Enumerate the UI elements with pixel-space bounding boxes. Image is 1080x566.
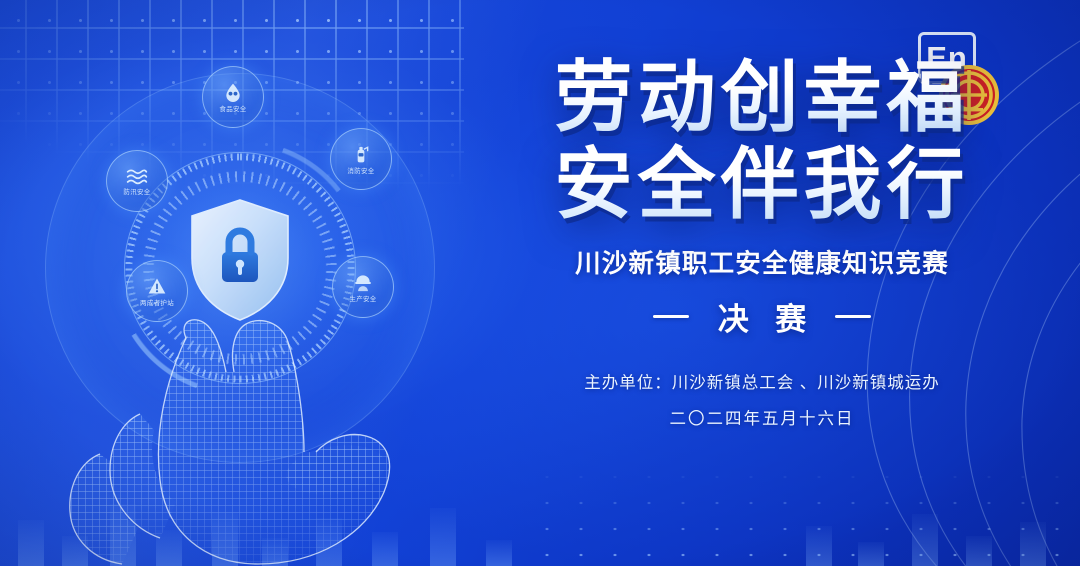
- badge-label: 消防安全: [347, 165, 374, 175]
- poster-canvas: 食品安全 消防安全 生产安全: [0, 0, 1080, 566]
- organizer-line: 主办单位：川沙新镇总工会 、川沙新镇城运办: [512, 369, 1012, 393]
- stage-row: 决 赛: [512, 294, 1012, 339]
- title-line-1: 劳动创幸福: [512, 56, 1012, 139]
- badge-fire-safety[interactable]: 消防安全: [330, 128, 392, 190]
- event-subtitle: 川沙新镇职工安全健康知识竞赛: [512, 243, 1012, 280]
- dash-right-decor: [835, 315, 871, 318]
- warning-triangle-icon: [147, 276, 167, 296]
- badge-food-safety[interactable]: 食品安全: [202, 66, 264, 128]
- worker-helmet-icon: [353, 272, 373, 292]
- title-line-2: 安全伴我行: [512, 143, 1012, 226]
- badge-label: 食品安全: [219, 103, 246, 113]
- event-date: 二〇二四年五月十六日: [512, 405, 1012, 429]
- water-wave-icon: [126, 167, 148, 185]
- badge-label: 防汛安全: [123, 186, 150, 196]
- dot-grid-decor: [530, 464, 1080, 566]
- wireframe-hand-graphic: [36, 302, 466, 566]
- droplet-mask-icon: [223, 82, 243, 102]
- dash-left-decor: [653, 315, 689, 318]
- stage-label: 决 赛: [709, 294, 816, 339]
- badge-label: 生产安全: [349, 293, 376, 303]
- fire-extinguisher-icon: [351, 144, 371, 164]
- text-content: En 劳动创幸福 安全伴我行 川沙新镇职工安全健康知识竞赛 决 赛 主办单位：川…: [512, 56, 1012, 429]
- badge-flood-safety[interactable]: 防汛安全: [106, 150, 168, 212]
